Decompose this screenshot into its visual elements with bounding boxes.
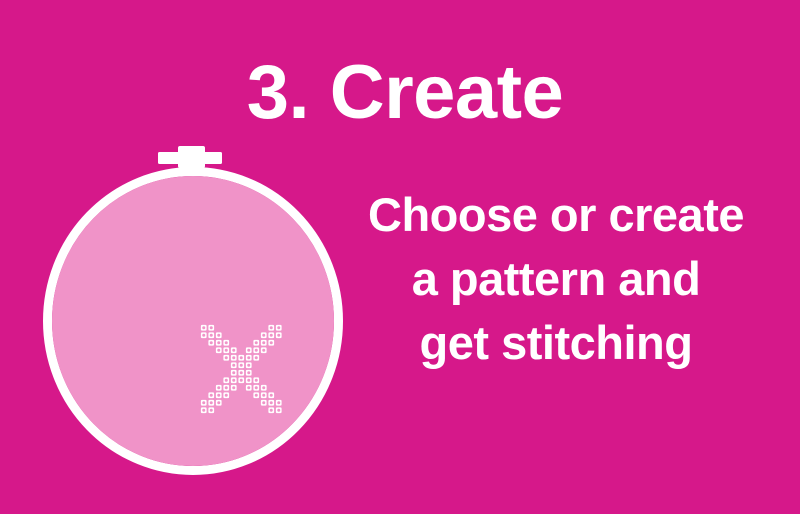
slide-canvas: 3. Create Choose or create a pattern and… <box>0 0 800 514</box>
description-line-1: Choose or create <box>340 183 772 247</box>
embroidery-hoop-illustration <box>40 138 350 484</box>
description-line-3: get stitching <box>340 311 772 375</box>
step-description: Choose or create a pattern and get stitc… <box>340 183 772 375</box>
step-title: 3. Create <box>0 50 800 136</box>
hoop-hardware-tab <box>158 146 222 168</box>
description-line-2: a pattern and <box>340 247 772 311</box>
hoop-fabric <box>52 176 334 466</box>
